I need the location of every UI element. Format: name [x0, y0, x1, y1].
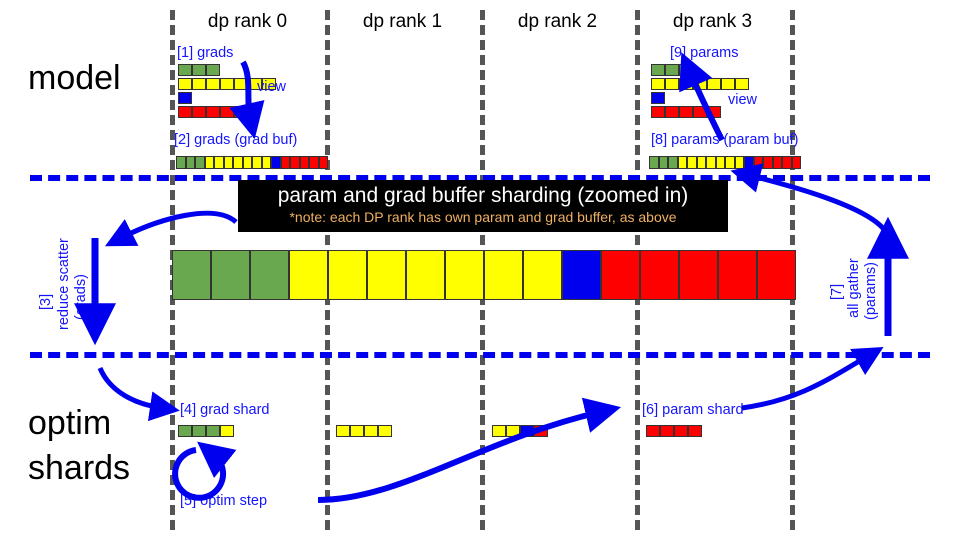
column-header-rank-1: dp rank 1 [325, 11, 480, 33]
buffer-cell-yellow [406, 250, 445, 300]
label-step-7-line1: all gather [846, 258, 862, 318]
buffer-cell-green [176, 156, 186, 169]
buffer-cell-red [646, 425, 660, 437]
shard-rank2 [492, 425, 548, 437]
buffer-cell-blue [744, 156, 754, 169]
buffer-cell-yellow [706, 156, 716, 169]
buffer-cell-red [281, 156, 291, 169]
model-params-row-red [651, 106, 721, 118]
buffer-cell-green [172, 250, 211, 300]
buffer-cell-yellow [220, 425, 234, 437]
buffer-cell-yellow [492, 425, 506, 437]
buffer-cell-yellow [506, 425, 520, 437]
label-step-7-line2: (params) [863, 262, 879, 320]
buffer-cell-red [773, 156, 783, 169]
buffer-cell-yellow [367, 250, 406, 300]
buffer-cell-yellow [735, 156, 745, 169]
buffer-cell-green [206, 64, 220, 76]
buffer-cell-green [659, 156, 669, 169]
buffer-cell-blue [271, 156, 281, 169]
buffer-cell-red [718, 250, 757, 300]
buffer-cell-yellow [224, 156, 234, 169]
buffer-cell-red [178, 106, 192, 118]
buffer-cell-yellow [523, 250, 562, 300]
arrow-allgather-to-parambuf [748, 175, 886, 232]
buffer-cell-yellow [234, 78, 248, 90]
buffer-cell-green [178, 64, 192, 76]
model-params-row-blue [651, 92, 665, 104]
buffer-cell-yellow [214, 156, 224, 169]
buffer-cell-red [601, 250, 640, 300]
buffer-cell-red [674, 425, 688, 437]
label-step-3-line1: reduce scatter [56, 238, 72, 330]
buffer-cell-red [763, 156, 773, 169]
buffer-cell-green [250, 250, 289, 300]
label-step-8-param-buf: [8] params (param buf) [651, 132, 798, 148]
buffer-cell-yellow [206, 78, 220, 90]
buffer-cell-green [651, 64, 665, 76]
section-label-model: model [28, 58, 121, 98]
arrow-gradbuf-to-zoom [121, 213, 236, 238]
label-step-4-grad-shard: [4] grad shard [180, 402, 269, 418]
buffer-cell-red [192, 106, 206, 118]
buffer-cell-yellow [350, 425, 364, 437]
buffer-cell-red [792, 156, 802, 169]
buffer-cell-yellow [192, 78, 206, 90]
buffer-cell-red [309, 156, 319, 169]
buffer-cell-yellow [678, 156, 688, 169]
model-params-row-yellow [651, 78, 749, 90]
buffer-cell-yellow [364, 425, 378, 437]
buffer-cell-blue [178, 92, 192, 104]
buffer-cell-blue [651, 92, 665, 104]
buffer-cell-green [668, 156, 678, 169]
section-label-optim-line1: optim [28, 403, 111, 443]
buffer-cell-green [211, 250, 250, 300]
shard-rank1 [336, 425, 392, 437]
banner-title: param and grad buffer sharding (zoomed i… [238, 183, 728, 208]
buffer-cell-red [688, 425, 702, 437]
buffer-cell-red [757, 250, 796, 300]
buffer-cell-yellow [328, 250, 367, 300]
section-label-optim-line2: shards [28, 448, 130, 488]
buffer-cell-green [192, 425, 206, 437]
buffer-cell-blue [520, 425, 534, 437]
label-step-3-number: [3] [38, 294, 54, 310]
model-grads-row-green [178, 64, 220, 76]
buffer-cell-yellow [697, 156, 707, 169]
buffer-cell-yellow [725, 156, 735, 169]
buffer-cell-yellow [735, 78, 749, 90]
buffer-cell-red [290, 156, 300, 169]
buffer-cell-red [679, 106, 693, 118]
buffer-cell-yellow [205, 156, 215, 169]
buffer-cell-yellow [484, 250, 523, 300]
zoomed-sharded-buffer [172, 250, 796, 300]
column-header-rank-2: dp rank 2 [480, 11, 635, 33]
buffer-cell-green [665, 64, 679, 76]
buffer-cell-yellow [707, 78, 721, 90]
buffer-cell-yellow [289, 250, 328, 300]
buffer-cell-yellow [243, 156, 253, 169]
buffer-cell-yellow [233, 156, 243, 169]
buffer-cell-green [195, 156, 205, 169]
buffer-cell-yellow [716, 156, 726, 169]
grad-shard-rank0 [178, 425, 234, 437]
param-buffer-rank3 [649, 156, 801, 169]
buffer-cell-green [192, 64, 206, 76]
buffer-cell-yellow [665, 78, 679, 90]
buffer-cell-red [754, 156, 764, 169]
buffer-cell-yellow [378, 425, 392, 437]
buffer-cell-red [651, 106, 665, 118]
buffer-cell-blue [562, 250, 601, 300]
arrow-param-shard-to-allgather [742, 356, 868, 408]
zoomed-in-banner: param and grad buffer sharding (zoomed i… [238, 180, 728, 232]
model-grads-row-red [178, 106, 248, 118]
buffer-cell-yellow [262, 156, 272, 169]
buffer-cell-red [693, 106, 707, 118]
column-header-rank-3: dp rank 3 [635, 11, 790, 33]
label-step-2-grad-buf: [2] grads (grad buf) [174, 132, 297, 148]
buffer-cell-yellow [687, 156, 697, 169]
buffer-cell-green [679, 64, 693, 76]
label-step-6-param-shard: [6] param shard [642, 402, 744, 418]
buffer-cell-yellow [679, 78, 693, 90]
label-step-9-params: [9] params [670, 45, 739, 61]
label-step-5-optim-step: [5] optim step [180, 493, 267, 509]
buffer-cell-yellow [445, 250, 484, 300]
buffer-cell-yellow [178, 78, 192, 90]
label-step-9-view: view [728, 92, 757, 108]
buffer-cell-yellow [252, 156, 262, 169]
buffer-cell-red [679, 250, 718, 300]
buffer-cell-red [665, 106, 679, 118]
label-step-1-grads: [1] grads [177, 45, 233, 61]
model-grads-row-blue [178, 92, 192, 104]
buffer-cell-red [534, 425, 548, 437]
buffer-cell-red [640, 250, 679, 300]
label-step-7-number: [7] [829, 284, 845, 300]
model-params-row-green [651, 64, 693, 76]
arrow-to-grad-shard [100, 368, 162, 408]
buffer-cell-yellow [651, 78, 665, 90]
buffer-cell-red [319, 156, 329, 169]
param-shard-rank3 [646, 425, 702, 437]
label-step-1-view: view [257, 79, 286, 95]
buffer-cell-red [782, 156, 792, 169]
buffer-cell-red [707, 106, 721, 118]
buffer-cell-red [660, 425, 674, 437]
arrow-optim-step-loop [175, 450, 223, 498]
buffer-cell-red [206, 106, 220, 118]
grad-buffer-rank0 [176, 156, 328, 169]
buffer-cell-yellow [693, 78, 707, 90]
banner-note: *note: each DP rank has own param and gr… [238, 208, 728, 226]
buffer-cell-green [649, 156, 659, 169]
buffer-cell-red [234, 106, 248, 118]
buffer-cell-yellow [336, 425, 350, 437]
buffer-cell-yellow [220, 78, 234, 90]
label-step-3-line2: (grads) [73, 274, 89, 320]
buffer-cell-green [186, 156, 196, 169]
diagram-canvas: dp rank 0 dp rank 1 dp rank 2 dp rank 3 … [0, 0, 960, 540]
buffer-cell-green [178, 425, 192, 437]
buffer-cell-yellow [721, 78, 735, 90]
column-header-rank-0: dp rank 0 [170, 11, 325, 33]
buffer-cell-red [220, 106, 234, 118]
buffer-cell-red [300, 156, 310, 169]
band-separator-bottom [30, 352, 930, 358]
buffer-cell-green [206, 425, 220, 437]
